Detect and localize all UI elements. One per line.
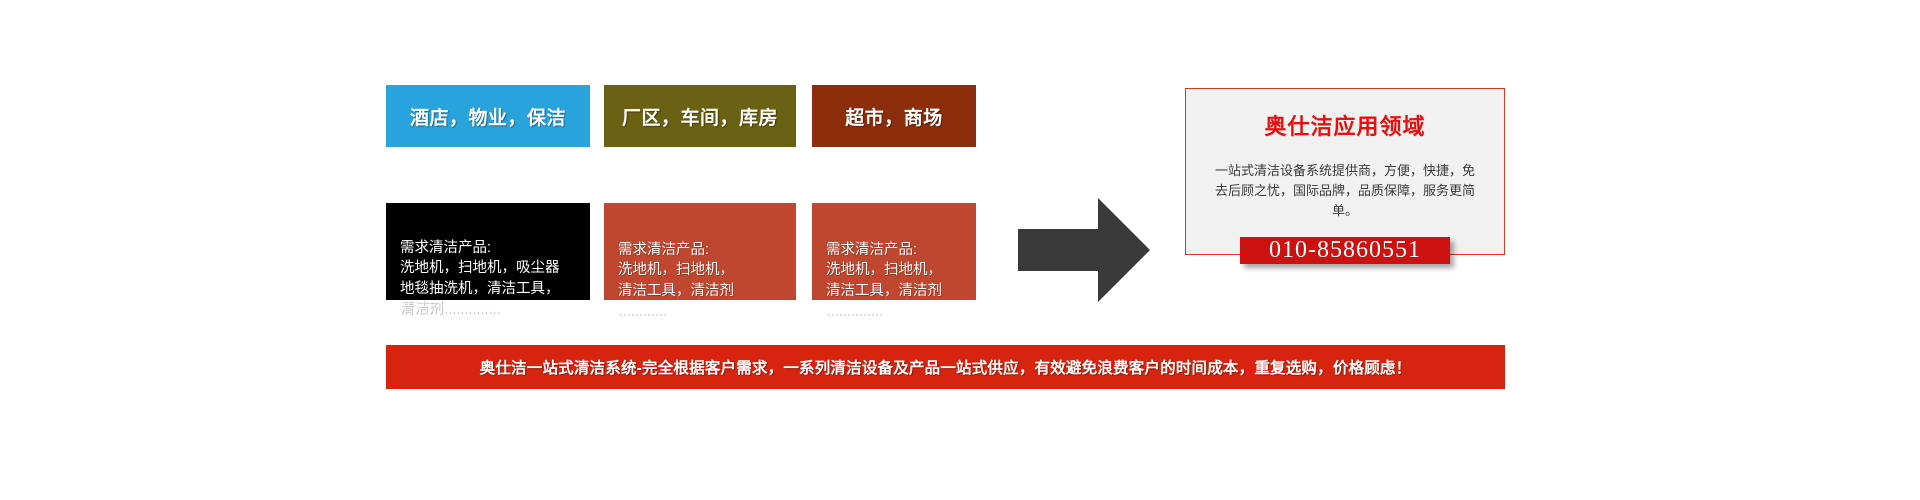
detail-body-text: 洗地机，扫地机， 清洁工具，清洁剂 ............ — [618, 262, 734, 319]
category-header-supermarket[interactable]: 超市，商场 — [812, 85, 976, 147]
category-detail-supermarket: 需求清洁产品:洗地机，扫地机， 清洁工具，清洁剂 .............. — [812, 203, 976, 300]
phone-number-button[interactable]: 010-85860551 — [1240, 237, 1450, 264]
application-fields-panel: 奥仕洁应用领域 一站式清洁设备系统提供商，方便，快捷，免去后顾之忧，国际品牌，品… — [1185, 88, 1505, 255]
panel-description: 一站式清洁设备系统提供商，方便，快捷，免去后顾之忧，国际品牌，品质保障，服务更简… — [1214, 161, 1476, 221]
bottom-slogan-text: 奥仕洁一站式清洁系统-完全根据客户需求，一系列清洁设备及产品一站式供应，有效避免… — [480, 356, 1412, 378]
category-header-label: 酒店，物业，保洁 — [410, 103, 566, 130]
detail-lead-label: 需求清洁产品: — [618, 240, 782, 261]
panel-title: 奥仕洁应用领域 — [1264, 109, 1425, 141]
category-header-factory[interactable]: 厂区，车间，库房 — [604, 85, 796, 147]
category-header-hotel[interactable]: 酒店，物业，保洁 — [386, 85, 590, 147]
bottom-slogan-banner: 奥仕洁一站式清洁系统-完全根据客户需求，一系列清洁设备及产品一站式供应，有效避免… — [386, 345, 1505, 389]
detail-lead-label: 需求清洁产品: — [826, 240, 962, 261]
arrow-right-icon — [1018, 198, 1150, 302]
infographic-stage: 酒店，物业，保洁 厂区，车间，库房 超市，商场 需求清洁产品:洗地机，扫地机，吸… — [0, 0, 1920, 500]
detail-body-text: 洗地机，扫地机，吸尘器 地毯抽洗机，清洁工具， 清洁剂.............… — [400, 260, 560, 317]
phone-number-label: 010-85860551 — [1269, 237, 1421, 264]
detail-body-text: 洗地机，扫地机， 清洁工具，清洁剂 .............. — [826, 262, 942, 319]
category-header-label: 超市，商场 — [845, 103, 943, 130]
category-detail-hotel: 需求清洁产品:洗地机，扫地机，吸尘器 地毯抽洗机，清洁工具， 清洁剂......… — [386, 203, 590, 300]
detail-lead-label: 需求清洁产品: — [400, 238, 576, 259]
category-detail-factory: 需求清洁产品:洗地机，扫地机， 清洁工具，清洁剂 ............ — [604, 203, 796, 300]
category-header-label: 厂区，车间，库房 — [622, 103, 778, 130]
